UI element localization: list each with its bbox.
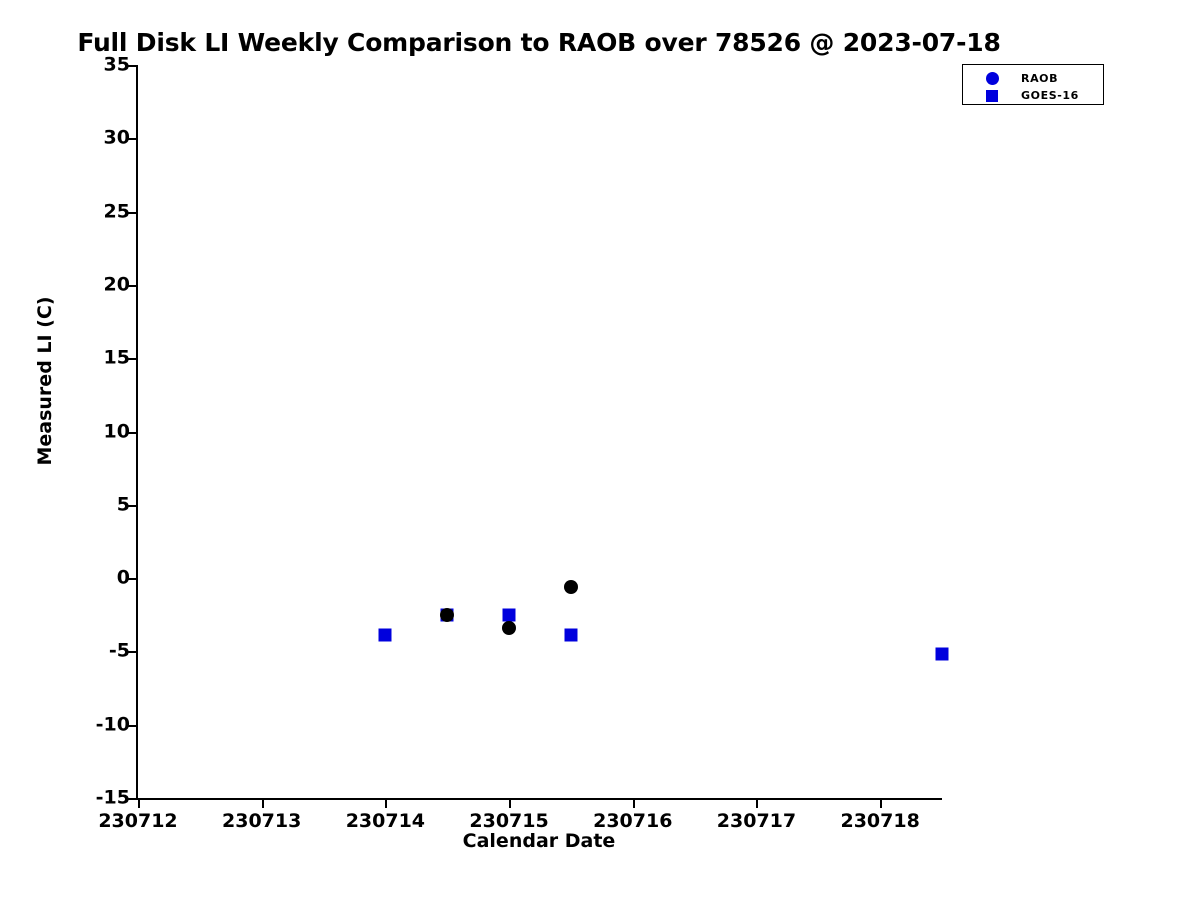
- x-axis-tick-label: 230717: [717, 812, 796, 831]
- circle-marker-icon: [986, 72, 999, 85]
- x-axis-tick-mark: [509, 798, 511, 808]
- legend-label: GOES-16: [1021, 89, 1079, 102]
- x-axis-tick-label: 230718: [840, 812, 919, 831]
- x-axis-tick-mark: [756, 798, 758, 808]
- x-axis-tick-mark: [262, 798, 264, 808]
- y-axis-tick-label: -15: [96, 789, 130, 808]
- x-axis-tick-label: 230716: [593, 812, 672, 831]
- x-axis-tick-mark: [385, 798, 387, 808]
- x-axis-tick-mark: [633, 798, 635, 808]
- y-axis-tick-label: -5: [109, 642, 130, 661]
- x-axis-label: Calendar Date: [136, 830, 942, 852]
- legend-item-goes-16[interactable]: GOES-16: [963, 86, 1103, 105]
- y-axis-label: Measured LI (C): [34, 131, 56, 631]
- x-axis-tick-label: 230712: [98, 812, 177, 831]
- y-axis-tick-label: 0: [117, 569, 130, 588]
- legend-marker-cell: [963, 72, 1021, 85]
- chart-title: Full Disk LI Weekly Comparison to RAOB o…: [0, 28, 1078, 57]
- chart-figure: Full Disk LI Weekly Comparison to RAOB o…: [0, 0, 1200, 900]
- legend-label: RAOB: [1021, 72, 1058, 85]
- x-axis-tick-label: 230714: [346, 812, 425, 831]
- y-axis-tick-label: 25: [104, 202, 130, 221]
- y-axis-tick-label: 5: [117, 495, 130, 514]
- legend-marker-cell: [963, 90, 1021, 102]
- data-point-goes-16: [936, 648, 949, 661]
- data-point-goes-16: [564, 629, 577, 642]
- y-axis-tick-label: 30: [104, 129, 130, 148]
- x-axis-tick-label: 230715: [469, 812, 548, 831]
- y-axis-tick-label: 15: [104, 349, 130, 368]
- plot-inner: 35302520151050-5-10-15230712230713230714…: [138, 65, 942, 798]
- square-marker-icon: [986, 90, 998, 102]
- data-point-raob: [440, 608, 454, 622]
- data-point-goes-16: [379, 629, 392, 642]
- data-point-raob: [502, 621, 516, 635]
- y-axis-tick-label: 10: [104, 422, 130, 441]
- chart-legend: RAOBGOES-16: [962, 64, 1104, 105]
- data-point-goes-16: [503, 608, 516, 621]
- x-axis-tick-mark: [138, 798, 140, 808]
- data-point-raob: [564, 580, 578, 594]
- y-axis-tick-label: -10: [96, 715, 130, 734]
- plot-area: 35302520151050-5-10-15230712230713230714…: [136, 65, 942, 800]
- x-axis-tick-mark: [880, 798, 882, 808]
- y-axis-tick-label: 35: [104, 56, 130, 75]
- y-axis-tick-label: 20: [104, 275, 130, 294]
- x-axis-tick-label: 230713: [222, 812, 301, 831]
